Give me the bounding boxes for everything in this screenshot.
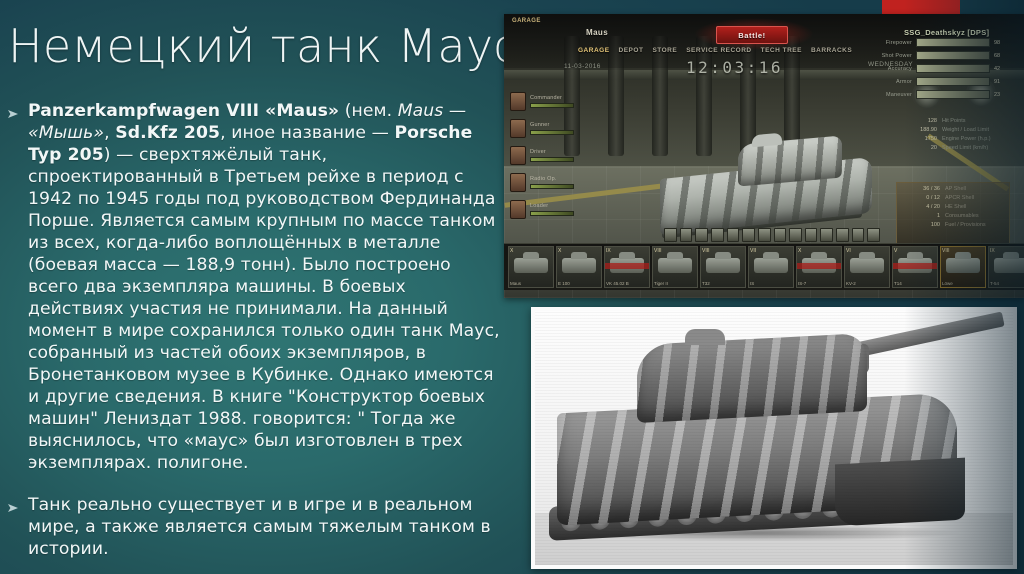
game-menu-item-store[interactable]: STORE bbox=[652, 47, 677, 54]
crew-role: Driver bbox=[530, 149, 604, 155]
text-run: — bbox=[443, 101, 466, 121]
crew-portrait-icon bbox=[510, 146, 526, 165]
carousel-tank-card[interactable]: IXVK 45.02 B bbox=[604, 246, 650, 288]
tank-silhouette-icon bbox=[754, 258, 788, 273]
crew-role: Loader bbox=[530, 203, 604, 209]
hud-section-caption: GARAGE bbox=[512, 18, 541, 24]
ammo-row[interactable]: 0 / 12APCR Shell bbox=[897, 192, 1009, 201]
crew-role: Radio Op. bbox=[530, 176, 604, 182]
text-run: «Мышь» bbox=[28, 123, 104, 143]
tank-tier: X bbox=[798, 248, 801, 254]
crew-member-row[interactable]: Loader bbox=[510, 200, 604, 219]
paragraph-1: Panzerkampfwagen VIII «Maus» (нем. Maus … bbox=[28, 100, 512, 474]
tank-tier: X bbox=[558, 248, 561, 254]
battle-button[interactable]: Battle! bbox=[716, 26, 788, 44]
text-run: Танк реально существует и в игре и в реа… bbox=[28, 495, 491, 559]
carousel-tank-card[interactable]: IXT-54 bbox=[988, 246, 1024, 288]
carousel-tank-card[interactable]: XMaus bbox=[508, 246, 554, 288]
stat-label: Armor bbox=[896, 79, 912, 85]
crew-portrait-icon bbox=[510, 200, 526, 219]
module-icon[interactable] bbox=[680, 228, 693, 242]
stat-label: Shot Power bbox=[882, 53, 912, 59]
tank-status-stripe bbox=[797, 263, 841, 269]
crew-portrait-icon bbox=[510, 119, 526, 138]
stat-value: 98 bbox=[994, 40, 1020, 46]
crew-portrait-icon bbox=[510, 92, 526, 111]
content-body: Panzerkampfwagen VIII «Maus» (нем. Maus … bbox=[0, 100, 512, 574]
game-menu-item-service-record[interactable]: SERVICE RECORD bbox=[686, 47, 751, 54]
stat-row: Armor91 bbox=[870, 77, 1020, 86]
stat-label: Firepower bbox=[886, 40, 912, 46]
tank-stats-extra-panel: 128Hit Points188.90Weight / Load Limit17… bbox=[882, 118, 1008, 154]
stat-label: Accuracy bbox=[888, 66, 912, 72]
tank-silhouette-icon bbox=[994, 258, 1024, 273]
stat-extra-row: 1750Engine Power (h.p.) bbox=[882, 136, 1008, 142]
page-title: Немецкий танк Маус bbox=[8, 22, 528, 71]
stat-extra-value: 128 bbox=[928, 118, 937, 124]
ammo-label: AP Shell bbox=[945, 186, 1003, 192]
game-screenshot-image: GARAGE Maus Battle! SSG_Deathskyz [DPS] … bbox=[504, 14, 1024, 298]
crew-member-row[interactable]: Gunner bbox=[510, 119, 604, 138]
crew-skill-bar bbox=[530, 184, 574, 189]
crew-member-row[interactable]: Driver bbox=[510, 146, 604, 165]
module-icon[interactable] bbox=[867, 228, 880, 242]
stat-bar bbox=[916, 51, 990, 60]
tank-name: T32 bbox=[702, 281, 710, 286]
ammo-count: 4 / 20 bbox=[926, 204, 940, 210]
game-menu-item-tech-tree[interactable]: TECH TREE bbox=[761, 47, 802, 54]
crew-member-row[interactable]: Radio Op. bbox=[510, 173, 604, 192]
tank-name: Löwe bbox=[942, 281, 953, 286]
module-icon[interactable] bbox=[758, 228, 771, 242]
tank-name: IS-7 bbox=[798, 281, 806, 286]
stat-row: Firepower98 bbox=[870, 38, 1020, 47]
crew-member-row[interactable]: Commander bbox=[510, 92, 604, 111]
module-icon[interactable] bbox=[836, 228, 849, 242]
hud-player-name[interactable]: SSG_Deathskyz [DPS] bbox=[904, 28, 989, 37]
crew-meta: Gunner bbox=[530, 122, 604, 135]
maus-tank-model bbox=[660, 132, 880, 236]
stat-bar bbox=[916, 64, 990, 73]
ammunition-panel[interactable]: 36 / 36AP Shell0 / 12APCR Shell4 / 20HE … bbox=[896, 182, 1010, 246]
ammo-row[interactable]: 36 / 36AP Shell bbox=[897, 183, 1009, 192]
module-icon[interactable] bbox=[805, 228, 818, 242]
crew-panel[interactable]: CommanderGunnerDriverRadio Op.Loader bbox=[510, 92, 604, 227]
stat-extra-label: Engine Power (h.p.) bbox=[942, 136, 1008, 142]
text-run: Maus bbox=[398, 101, 444, 121]
crew-role: Commander bbox=[530, 95, 604, 101]
module-icon[interactable] bbox=[852, 228, 865, 242]
text-run: Sd.Kfz 205 bbox=[115, 123, 220, 143]
ammo-label: HE Shell bbox=[945, 204, 1003, 210]
stat-bar bbox=[916, 77, 990, 86]
text-run: ) — сверхтяжёлый танк, спроектированный … bbox=[28, 145, 500, 473]
tank-name: IS bbox=[750, 281, 754, 286]
hud-date: 11-03-2016 bbox=[564, 63, 601, 70]
tank-silhouette-icon bbox=[514, 258, 548, 273]
triangle-arrow-bullet-icon bbox=[8, 109, 22, 119]
presentation-slide: Немецкий танк Маус Panzerkampfwagen VIII… bbox=[0, 0, 1024, 574]
tank-tier: VIII bbox=[702, 248, 710, 254]
stat-extra-row: 188.90Weight / Load Limit bbox=[882, 127, 1008, 133]
tank-status-stripe bbox=[605, 263, 649, 269]
tank-carousel[interactable]: XMausXE 100IXVK 45.02 BVIIITiger IIVIIIT… bbox=[504, 243, 1024, 290]
stat-value: 91 bbox=[994, 79, 1020, 85]
tank-tier: VIII bbox=[654, 248, 662, 254]
stat-label: Maneuver bbox=[886, 92, 912, 98]
tank-tier: X bbox=[510, 248, 513, 254]
stat-extra-label: Weight / Load Limit bbox=[942, 127, 1008, 133]
tank-tier: IX bbox=[990, 248, 995, 254]
stat-extra-label: Speed Limit (km/h) bbox=[942, 145, 1008, 151]
module-icon[interactable] bbox=[789, 228, 802, 242]
stat-value: 42 bbox=[994, 66, 1020, 72]
crew-role: Gunner bbox=[530, 122, 604, 128]
module-icon[interactable] bbox=[664, 228, 677, 242]
text-run: , bbox=[104, 123, 115, 143]
tank-name: T-54 bbox=[990, 281, 999, 286]
module-icon[interactable] bbox=[774, 228, 787, 242]
carousel-tank-card[interactable]: VIIILöwe bbox=[940, 246, 986, 288]
carousel-tank-card[interactable]: XIS-7 bbox=[796, 246, 842, 288]
crew-skill-bar bbox=[530, 157, 574, 162]
hud-clock: 12:03:16 bbox=[686, 58, 783, 77]
text-run: (нем. bbox=[339, 101, 398, 121]
tank-stats-panel: Firepower98Shot Power68Accuracy42Armor91… bbox=[870, 38, 1020, 103]
text-run: , иное название — bbox=[220, 123, 394, 143]
stat-row: Accuracy42 bbox=[870, 64, 1020, 73]
maus-photograph bbox=[535, 311, 1013, 565]
tank-silhouette-icon bbox=[850, 258, 884, 273]
tank-silhouette-icon bbox=[658, 258, 692, 273]
ammo-label: Consumables bbox=[945, 213, 1003, 219]
carousel-tank-card[interactable]: VIIIS bbox=[748, 246, 794, 288]
stat-extra-label: Hit Points bbox=[942, 118, 1008, 124]
maus-photo-frame bbox=[531, 307, 1017, 569]
tank-tier: V bbox=[894, 248, 897, 254]
game-menu-item-barracks[interactable]: BARRACKS bbox=[811, 47, 852, 54]
paragraph-2: Танк реально существует и в игре и в реа… bbox=[28, 494, 512, 560]
list-item: Panzerkampfwagen VIII «Maus» (нем. Maus … bbox=[0, 100, 512, 474]
tank-tier: IX bbox=[606, 248, 611, 254]
tank-name: VK 45.02 B bbox=[606, 281, 629, 286]
ammo-count: 0 / 12 bbox=[926, 195, 940, 201]
tank-name: T14 bbox=[894, 281, 902, 286]
crew-skill-bar bbox=[530, 103, 574, 108]
crew-skill-bar bbox=[530, 211, 574, 216]
carousel-tank-card[interactable]: VIIITiger II bbox=[652, 246, 698, 288]
module-icon-strip[interactable] bbox=[664, 228, 880, 242]
ammo-count: 36 / 36 bbox=[923, 186, 940, 192]
crew-meta: Radio Op. bbox=[530, 176, 604, 189]
tank-status-stripe bbox=[893, 263, 937, 269]
carousel-tank-card[interactable]: XE 100 bbox=[556, 246, 602, 288]
module-icon[interactable] bbox=[711, 228, 724, 242]
triangle-arrow-bullet-icon bbox=[8, 503, 22, 513]
stat-bar bbox=[916, 38, 990, 47]
tank-tier: VI bbox=[846, 248, 851, 254]
stat-row: Shot Power68 bbox=[870, 51, 1020, 60]
game-menu-item-depot[interactable]: DEPOT bbox=[619, 47, 644, 54]
stat-extra-row: 20Speed Limit (km/h) bbox=[882, 145, 1008, 151]
ammo-row[interactable]: 100Fuel / Provisions bbox=[897, 219, 1009, 228]
crew-meta: Loader bbox=[530, 203, 604, 216]
tank-name: Maus bbox=[510, 281, 521, 286]
text-run: Panzerkampfwagen VIII «Maus» bbox=[28, 101, 339, 121]
module-icon[interactable] bbox=[727, 228, 740, 242]
ammo-row[interactable]: 1Consumables bbox=[897, 210, 1009, 219]
ammo-count: 1 bbox=[937, 213, 940, 219]
hud-tank-name: Maus bbox=[586, 28, 608, 37]
tank-name: Tiger II bbox=[654, 281, 668, 286]
module-icon[interactable] bbox=[742, 228, 755, 242]
tank-silhouette-icon bbox=[562, 258, 596, 273]
ammo-label: APCR Shell bbox=[945, 195, 1003, 201]
stat-extra-row: 128Hit Points bbox=[882, 118, 1008, 124]
stat-extra-value: 1750 bbox=[925, 136, 937, 142]
list-item: Танк реально существует и в игре и в реа… bbox=[0, 494, 512, 560]
crew-skill-bar bbox=[530, 130, 574, 135]
stat-row: Maneuver23 bbox=[870, 90, 1020, 99]
ammo-label: Fuel / Provisions bbox=[945, 222, 1003, 228]
stat-value: 23 bbox=[994, 92, 1020, 98]
stat-extra-value: 188.90 bbox=[920, 127, 937, 133]
tank-silhouette-icon bbox=[706, 258, 740, 273]
ammo-count: 100 bbox=[931, 222, 940, 228]
tank-silhouette-icon bbox=[946, 258, 980, 273]
carousel-tank-card[interactable]: VT14 bbox=[892, 246, 938, 288]
module-icon[interactable] bbox=[695, 228, 708, 242]
tank-tier: VIII bbox=[942, 248, 950, 254]
crew-meta: Commander bbox=[530, 95, 604, 108]
stat-extra-value: 20 bbox=[931, 145, 937, 151]
stat-bar bbox=[916, 90, 990, 99]
stat-value: 68 bbox=[994, 53, 1020, 59]
module-icon[interactable] bbox=[820, 228, 833, 242]
crew-portrait-icon bbox=[510, 173, 526, 192]
ammo-row[interactable]: 4 / 20HE Shell bbox=[897, 201, 1009, 210]
photo-film-grain bbox=[535, 311, 1013, 565]
carousel-tank-card[interactable]: VIIIT32 bbox=[700, 246, 746, 288]
game-menu-item-garage[interactable]: GARAGE bbox=[578, 47, 610, 54]
carousel-tank-card[interactable]: VIKV-2 bbox=[844, 246, 890, 288]
tank-tier: VII bbox=[750, 248, 756, 254]
tank-name: E 100 bbox=[558, 281, 570, 286]
game-menu-bar[interactable]: GARAGEDEPOTSTORESERVICE RECORDTECH TREEB… bbox=[578, 47, 852, 54]
tank-name: KV-2 bbox=[846, 281, 856, 286]
crew-meta: Driver bbox=[530, 149, 604, 162]
